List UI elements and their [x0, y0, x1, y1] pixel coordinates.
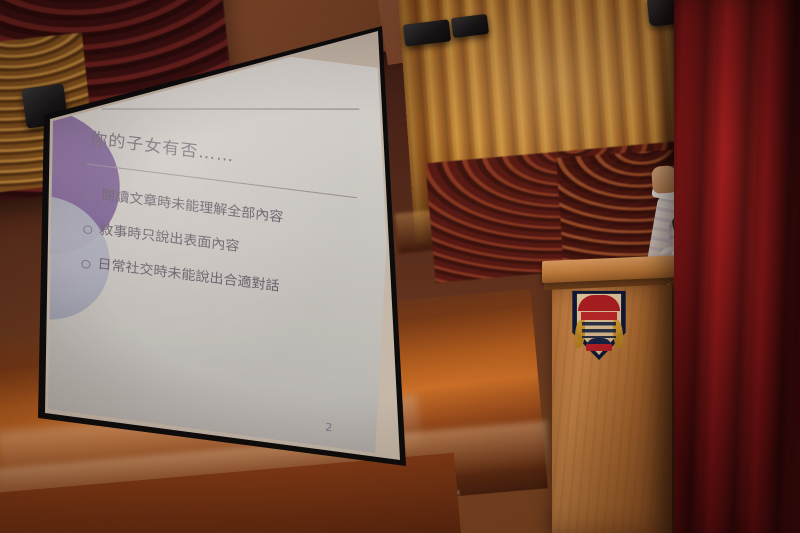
list-item-label: 敘事時只說出表面內容	[99, 222, 240, 255]
red-velvet-curtain	[674, 0, 800, 533]
photo-scene: 你的子女有否…… 閱讀文章時未能理解全部內容 敘事時只說出表面內容	[0, 0, 800, 533]
bullet-circle-icon	[85, 190, 94, 200]
crest-red-band	[581, 312, 617, 320]
crest-top-arc	[578, 295, 620, 311]
bullet-circle-icon	[83, 225, 92, 235]
crest-motto-text	[582, 322, 616, 338]
slide-page-number: 2	[325, 421, 333, 434]
projection-screen[interactable]: 你的子女有否…… 閱讀文章時未能理解全部內容 敘事時只說出表面內容	[34, 18, 406, 470]
podium	[546, 258, 678, 533]
bullet-circle-icon	[81, 259, 90, 269]
list-item-label: 日常社交時未能說出合適對話	[97, 257, 280, 295]
slide: 你的子女有否…… 閱讀文章時未能理解全部內容 敘事時只說出表面內容	[34, 26, 396, 470]
slide-bullet-list: 閱讀文章時未能理解全部內容 敘事時只說出表面內容 日常社交時未能說出合適對話	[80, 186, 386, 327]
slide-content: 你的子女有否…… 閱讀文章時未能理解全部內容 敘事時只說出表面內容	[34, 26, 396, 470]
slide-top-rule	[102, 108, 360, 109]
crest-year-ribbon	[586, 344, 612, 351]
school-crest-icon	[570, 288, 628, 360]
slide-title: 你的子女有否……	[90, 124, 235, 166]
screen-surface: 你的子女有否…… 閱讀文章時未能理解全部內容 敘事時只說出表面內容	[34, 18, 406, 470]
list-item-label: 閱讀文章時未能理解全部內容	[101, 188, 284, 226]
